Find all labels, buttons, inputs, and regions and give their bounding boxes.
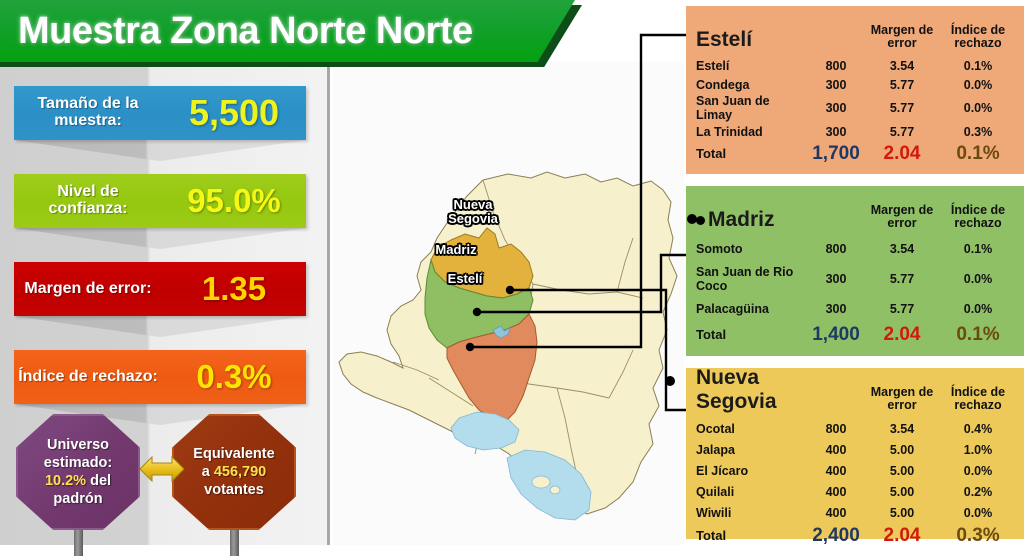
cell-rejection: 0.0%	[940, 464, 1016, 478]
page-title: Muestra Zona Norte Norte	[18, 3, 558, 59]
table-nueva-segovia-header: Nueva Segovia Margen de error Índice de …	[696, 374, 1016, 418]
table-esteli-col-rejection: Índice de rechazo	[940, 24, 1016, 57]
table-esteli-col-margin: Margen de error	[864, 24, 940, 57]
cell-n: 400	[808, 443, 864, 457]
map-label-madriz-text: Madriz	[435, 242, 476, 257]
cell-muni: Palacagüina	[696, 302, 808, 316]
map-dot-esteli	[466, 343, 474, 351]
chevron-divider-3	[14, 316, 306, 350]
cell-margin: 5.77	[864, 302, 940, 316]
cell-margin: 3.54	[864, 422, 940, 436]
stat-sample-size: Tamaño de la muestra: 5,500	[14, 86, 306, 140]
table-nueva-segovia-col-rejection: Índice de rechazo	[940, 386, 1016, 419]
cell-rejection: 0.0%	[940, 101, 1016, 115]
cell-total-label: Total	[696, 147, 808, 162]
universe-line4: padrón	[53, 491, 102, 507]
cell-margin: 3.54	[864, 59, 940, 73]
table-nueva-segovia-col-margin: Margen de error	[864, 386, 940, 419]
table-row-total: Total 1,400 2.04 0.1%	[696, 323, 1016, 347]
octagon-voters: Equivalente a 456,790 votantes	[172, 414, 296, 530]
cell-muni: La Trinidad	[696, 125, 808, 139]
cell-muni: Wiwili	[696, 506, 808, 520]
cell-rejection: 0.1%	[940, 59, 1016, 73]
cell-muni: Jalapa	[696, 443, 808, 457]
cell-rejection: 0.3%	[940, 125, 1016, 139]
stat-confidence-level: Nivel de confianza: 95.0%	[14, 174, 306, 228]
table-nueva-segovia: Nueva Segovia Margen de error Índice de …	[686, 368, 1024, 539]
table-madriz-header: Madriz Margen de error Índice de rechazo	[696, 192, 1016, 236]
cell-n: 300	[808, 101, 864, 115]
cell-margin: 5.77	[864, 101, 940, 115]
sign-universe-estimate: Universo estimado: 10.2% del padrón	[16, 414, 140, 530]
cell-n: 800	[808, 242, 864, 256]
cell-margin: 5.00	[864, 464, 940, 478]
table-row: Estelí 800 3.54 0.1%	[696, 56, 1016, 75]
table-row: Condega 300 5.77 0.0%	[696, 75, 1016, 94]
map-container	[333, 62, 684, 545]
table-row-total: Total 1,700 2.04 0.1%	[696, 142, 1016, 166]
map-label-esteli-text: Estelí	[448, 271, 483, 286]
stat-confidence-level-value: 95.0%	[162, 182, 306, 220]
map-label-esteli: Estelí	[437, 272, 493, 286]
voters-count: 456,790	[214, 464, 266, 480]
table-row: San Juan de Limay 300 5.77 0.0%	[696, 94, 1016, 122]
table-row: Palacagüina 300 5.77 0.0%	[696, 296, 1016, 322]
table-esteli: Estelí Margen de error Índice de rechazo…	[686, 6, 1024, 174]
table-madriz-title-text: Madriz	[708, 208, 775, 232]
cell-muni: Somoto	[696, 242, 808, 256]
table-row: Ocotal 800 3.54 0.4%	[696, 418, 1016, 439]
map-label-nueva-segovia: Nueva Segovia	[437, 198, 509, 225]
cell-rejection: 0.4%	[940, 422, 1016, 436]
table-row: El Jícaro 400 5.00 0.0%	[696, 460, 1016, 481]
cell-total-n: 1,700	[808, 143, 864, 165]
cell-margin: 5.77	[864, 272, 940, 286]
table-row: Jalapa 400 5.00 1.0%	[696, 439, 1016, 460]
cell-n: 800	[808, 59, 864, 73]
infographic-root: Muestra Zona Norte Norte Tamaño de la mu…	[0, 0, 1024, 545]
cell-margin: 5.77	[864, 78, 940, 92]
cell-muni: San Juan de Limay	[696, 94, 808, 122]
cell-margin: 5.00	[864, 443, 940, 457]
cell-muni: Condega	[696, 78, 808, 92]
cell-total-n: 2,400	[808, 525, 864, 547]
cell-total-label: Total	[696, 328, 808, 343]
table-madriz: Madriz Margen de error Índice de rechazo…	[686, 186, 1024, 356]
stat-confidence-level-label: Nivel de confianza:	[14, 184, 162, 218]
table-madriz-col-rejection: Índice de rechazo	[940, 204, 1016, 237]
table-row: San Juan de Rio Coco 300 5.77 0.0%	[696, 262, 1016, 296]
cell-n: 400	[808, 485, 864, 499]
universe-line3-rest: del	[86, 473, 111, 489]
voters-line3: votantes	[204, 482, 264, 498]
octagon-voters-text: Equivalente a 456,790 votantes	[185, 445, 282, 499]
cell-margin: 3.54	[864, 242, 940, 256]
voters-line2-pre: a	[202, 464, 214, 480]
cell-rejection: 0.0%	[940, 302, 1016, 316]
chevron-divider-1	[14, 140, 306, 174]
cell-total-margin: 2.04	[864, 324, 940, 346]
table-nueva-segovia-title: Nueva Segovia	[696, 366, 808, 418]
stat-margin-of-error-value: 1.35	[162, 270, 306, 308]
map-island-small	[550, 486, 560, 494]
cell-rejection: 0.0%	[940, 506, 1016, 520]
table-row: Somoto 800 3.54 0.1%	[696, 236, 1016, 262]
cell-margin: 5.77	[864, 125, 940, 139]
cell-total-rejection: 0.1%	[940, 324, 1016, 346]
octagon-universe-text: Universo estimado: 10.2% del padrón	[36, 436, 121, 509]
cell-muni: Quilali	[696, 485, 808, 499]
cell-n: 300	[808, 272, 864, 286]
cell-muni: Ocotal	[696, 422, 808, 436]
cell-margin: 5.00	[864, 485, 940, 499]
sign-voters-equivalent: Equivalente a 456,790 votantes	[172, 414, 296, 530]
chevron-divider-2	[14, 228, 306, 262]
table-row: La Trinidad 300 5.77 0.3%	[696, 122, 1016, 141]
stat-sample-size-label: Tamaño de la muestra:	[14, 96, 162, 130]
table-madriz-title: Madriz	[696, 208, 808, 236]
cell-rejection: 0.1%	[940, 242, 1016, 256]
table-row-total: Total 2,400 2.04 0.3%	[696, 524, 1016, 548]
table-esteli-header: Estelí Margen de error Índice de rechazo	[696, 12, 1016, 56]
stat-sample-size-value: 5,500	[162, 92, 306, 134]
cell-muni: El Jícaro	[696, 464, 808, 478]
nicaragua-map	[333, 62, 684, 545]
panel-left-strip	[0, 62, 12, 545]
cell-total-label: Total	[696, 529, 808, 544]
stat-rejection-rate: Índice de rechazo: 0.3%	[14, 350, 306, 404]
cell-n: 400	[808, 506, 864, 520]
cell-rejection: 1.0%	[940, 443, 1016, 457]
universe-line1: Universo	[47, 437, 109, 453]
table-esteli-title: Estelí	[696, 28, 808, 56]
cell-muni: Estelí	[696, 59, 808, 73]
stat-margin-of-error-label: Margen de error:	[14, 281, 162, 298]
cell-total-margin: 2.04	[864, 525, 940, 547]
cell-n: 300	[808, 125, 864, 139]
octagon-universe: Universo estimado: 10.2% del padrón	[16, 414, 140, 530]
stat-margin-of-error: Margen de error: 1.35	[14, 262, 306, 316]
table-row: Quilali 400 5.00 0.2%	[696, 481, 1016, 502]
map-label-nueva-segovia-text: Nueva Segovia	[448, 197, 498, 226]
map-label-madriz: Madriz	[423, 243, 489, 257]
cell-rejection: 0.0%	[940, 78, 1016, 92]
table-bullet-icon	[696, 216, 705, 225]
cell-muni: San Juan de Rio Coco	[696, 265, 808, 293]
table-row: Wiwili 400 5.00 0.0%	[696, 502, 1016, 523]
cell-n: 800	[808, 422, 864, 436]
cell-total-rejection: 0.1%	[940, 143, 1016, 165]
cell-rejection: 0.2%	[940, 485, 1016, 499]
table-nueva-segovia-title-text: Nueva Segovia	[696, 366, 808, 414]
double-arrow-icon	[140, 452, 184, 486]
cell-total-rejection: 0.3%	[940, 525, 1016, 547]
map-dot-madriz	[473, 308, 481, 316]
map-dot-nueva-segovia	[506, 286, 514, 294]
universe-line2: estimado:	[44, 455, 113, 471]
cell-n: 300	[808, 302, 864, 316]
stat-rejection-rate-label: Índice de rechazo:	[14, 369, 162, 386]
cell-rejection: 0.0%	[940, 272, 1016, 286]
cell-n: 400	[808, 464, 864, 478]
cell-n: 300	[808, 78, 864, 92]
table-madriz-col-margin: Margen de error	[864, 204, 940, 237]
voters-line1: Equivalente	[193, 446, 274, 462]
universe-percent: 10.2%	[45, 473, 86, 489]
table-esteli-title-text: Estelí	[696, 28, 752, 52]
cell-total-margin: 2.04	[864, 143, 940, 165]
map-island-ometepe	[532, 476, 550, 488]
cell-total-n: 1,400	[808, 324, 864, 346]
cell-margin: 5.00	[864, 506, 940, 520]
stat-rejection-rate-value: 0.3%	[162, 358, 306, 396]
